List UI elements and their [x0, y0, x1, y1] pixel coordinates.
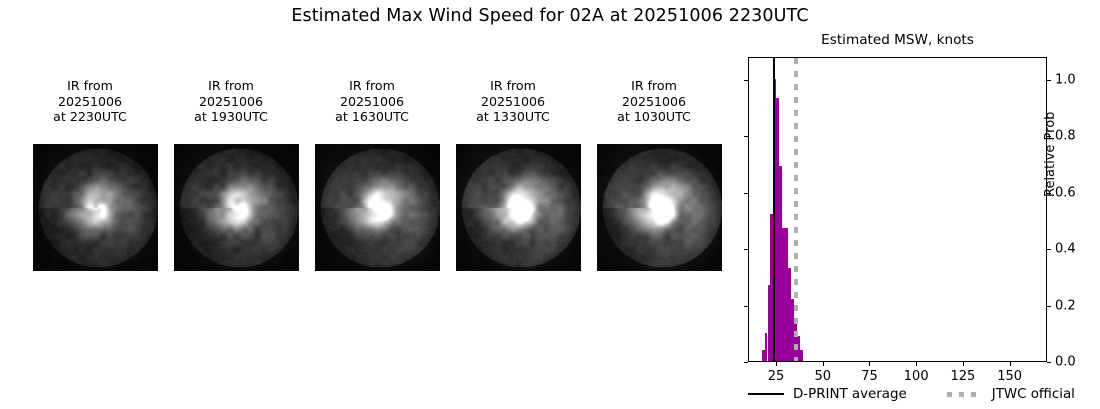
x-axis-tick [869, 362, 870, 366]
y-axis-label: Relative Prob [1043, 112, 1058, 197]
solid-line-icon [748, 393, 784, 395]
legend-label-jtwc-official: JTWC official [992, 387, 1075, 402]
ir-image-strip: IR from 20251006 at 2230UTCIR from 20251… [26, 78, 741, 278]
x-axis-tick [1010, 362, 1011, 366]
y-axis-tick [1047, 80, 1051, 81]
x-axis-tick-label: 150 [997, 369, 1022, 384]
ir-satellite-image [597, 144, 722, 271]
ir-satellite-image [174, 144, 299, 271]
ir-panel-caption: IR from 20251006 at 1030UTC [590, 78, 718, 125]
ir-panel-2230UTC: IR from 20251006 at 2230UTC [26, 78, 154, 125]
plot-area [749, 58, 1046, 361]
chart-legend: D-PRINT average JTWC official [748, 383, 1080, 405]
y-axis-tick-label: 1.0 [1055, 72, 1076, 87]
ir-panel-caption: IR from 20251006 at 1330UTC [449, 78, 577, 125]
y-axis-tick-label: 0.2 [1055, 298, 1076, 313]
x-axis-tick [776, 362, 777, 366]
y-axis-tick [744, 362, 748, 363]
x-axis-tick [823, 362, 824, 366]
ir-satellite-image [456, 144, 581, 271]
y-axis-tick [744, 136, 748, 137]
x-axis-tick [916, 362, 917, 366]
x-axis-tick-label: 125 [950, 369, 975, 384]
y-axis-tick-label: 0.6 [1055, 185, 1076, 200]
histogram-bar [800, 350, 803, 361]
ir-satellite-image [315, 144, 440, 271]
ir-satellite-image [33, 144, 158, 271]
dprint-average-line [773, 58, 775, 361]
y-axis-tick [744, 193, 748, 194]
ir-panel-1030UTC: IR from 20251006 at 1030UTC [590, 78, 718, 125]
ir-panel-1330UTC: IR from 20251006 at 1330UTC [449, 78, 577, 125]
y-axis-tick [1047, 249, 1051, 250]
chart-title: Estimated MSW, knots [748, 32, 1047, 48]
y-axis-tick [744, 249, 748, 250]
msw-histogram-chart: Estimated MSW, knots 2550751001251500.00… [748, 57, 1047, 362]
legend-item-jtwc-official: JTWC official [947, 387, 1075, 402]
y-axis-tick-label: 0.0 [1055, 355, 1076, 370]
x-axis-tick-label: 100 [904, 369, 929, 384]
ir-panel-caption: IR from 20251006 at 1630UTC [308, 78, 436, 125]
y-axis-tick [744, 80, 748, 81]
ir-panel-caption: IR from 20251006 at 2230UTC [26, 78, 154, 125]
x-axis-tick-label: 50 [814, 369, 831, 384]
ir-panel-1630UTC: IR from 20251006 at 1630UTC [308, 78, 436, 125]
legend-label-dprint-average: D-PRINT average [793, 387, 907, 402]
y-axis-tick-label: 0.8 [1055, 129, 1076, 144]
x-axis-tick [963, 362, 964, 366]
legend-item-dprint-average: D-PRINT average [748, 387, 907, 402]
plot-frame [748, 57, 1047, 362]
page-title: Estimated Max Wind Speed for 02A at 2025… [0, 6, 1100, 26]
y-axis-tick [1047, 306, 1051, 307]
jtwc-official-line [794, 58, 798, 361]
x-axis-tick-label: 25 [768, 369, 785, 384]
y-axis-tick [1047, 362, 1051, 363]
y-axis-tick-label: 0.4 [1055, 242, 1076, 257]
x-axis-tick-label: 75 [861, 369, 878, 384]
y-axis-tick [744, 306, 748, 307]
dotted-line-icon [947, 392, 983, 397]
ir-panel-1930UTC: IR from 20251006 at 1930UTC [167, 78, 295, 125]
ir-panel-caption: IR from 20251006 at 1930UTC [167, 78, 295, 125]
